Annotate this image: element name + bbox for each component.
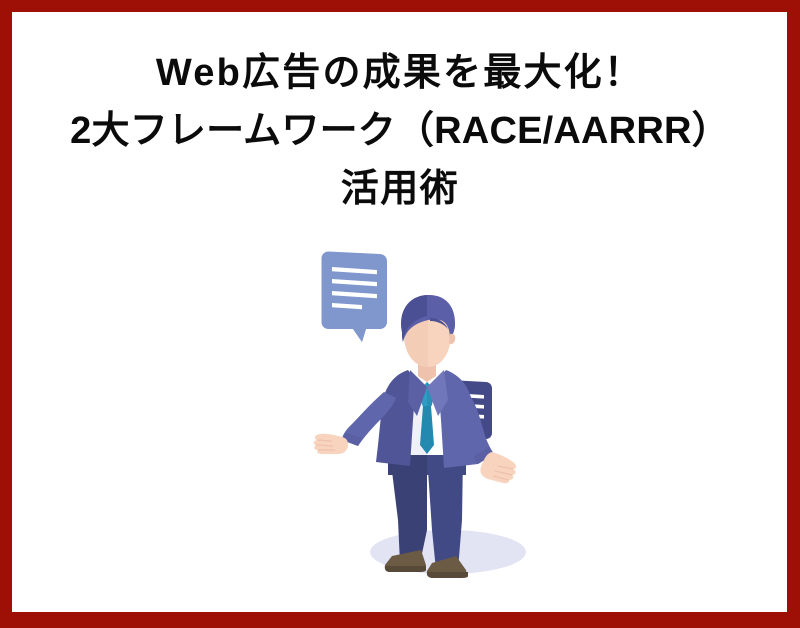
ear (449, 334, 455, 344)
speech-bubble-large-icon (320, 252, 394, 343)
thumbnail-canvas: Web広告の成果を最大化！ 2大フレームワーク（RACE/AARRR） 活用術 (0, 0, 800, 628)
title-line-2: 2大フレームワーク（RACE/AARRR） (0, 102, 800, 160)
title-line-1: Web広告の成果を最大化！ (0, 44, 800, 102)
title-line-3: 活用術 (0, 160, 800, 218)
page-title: Web広告の成果を最大化！ 2大フレームワーク（RACE/AARRR） 活用術 (0, 44, 800, 218)
businessman-illustration (280, 230, 540, 600)
